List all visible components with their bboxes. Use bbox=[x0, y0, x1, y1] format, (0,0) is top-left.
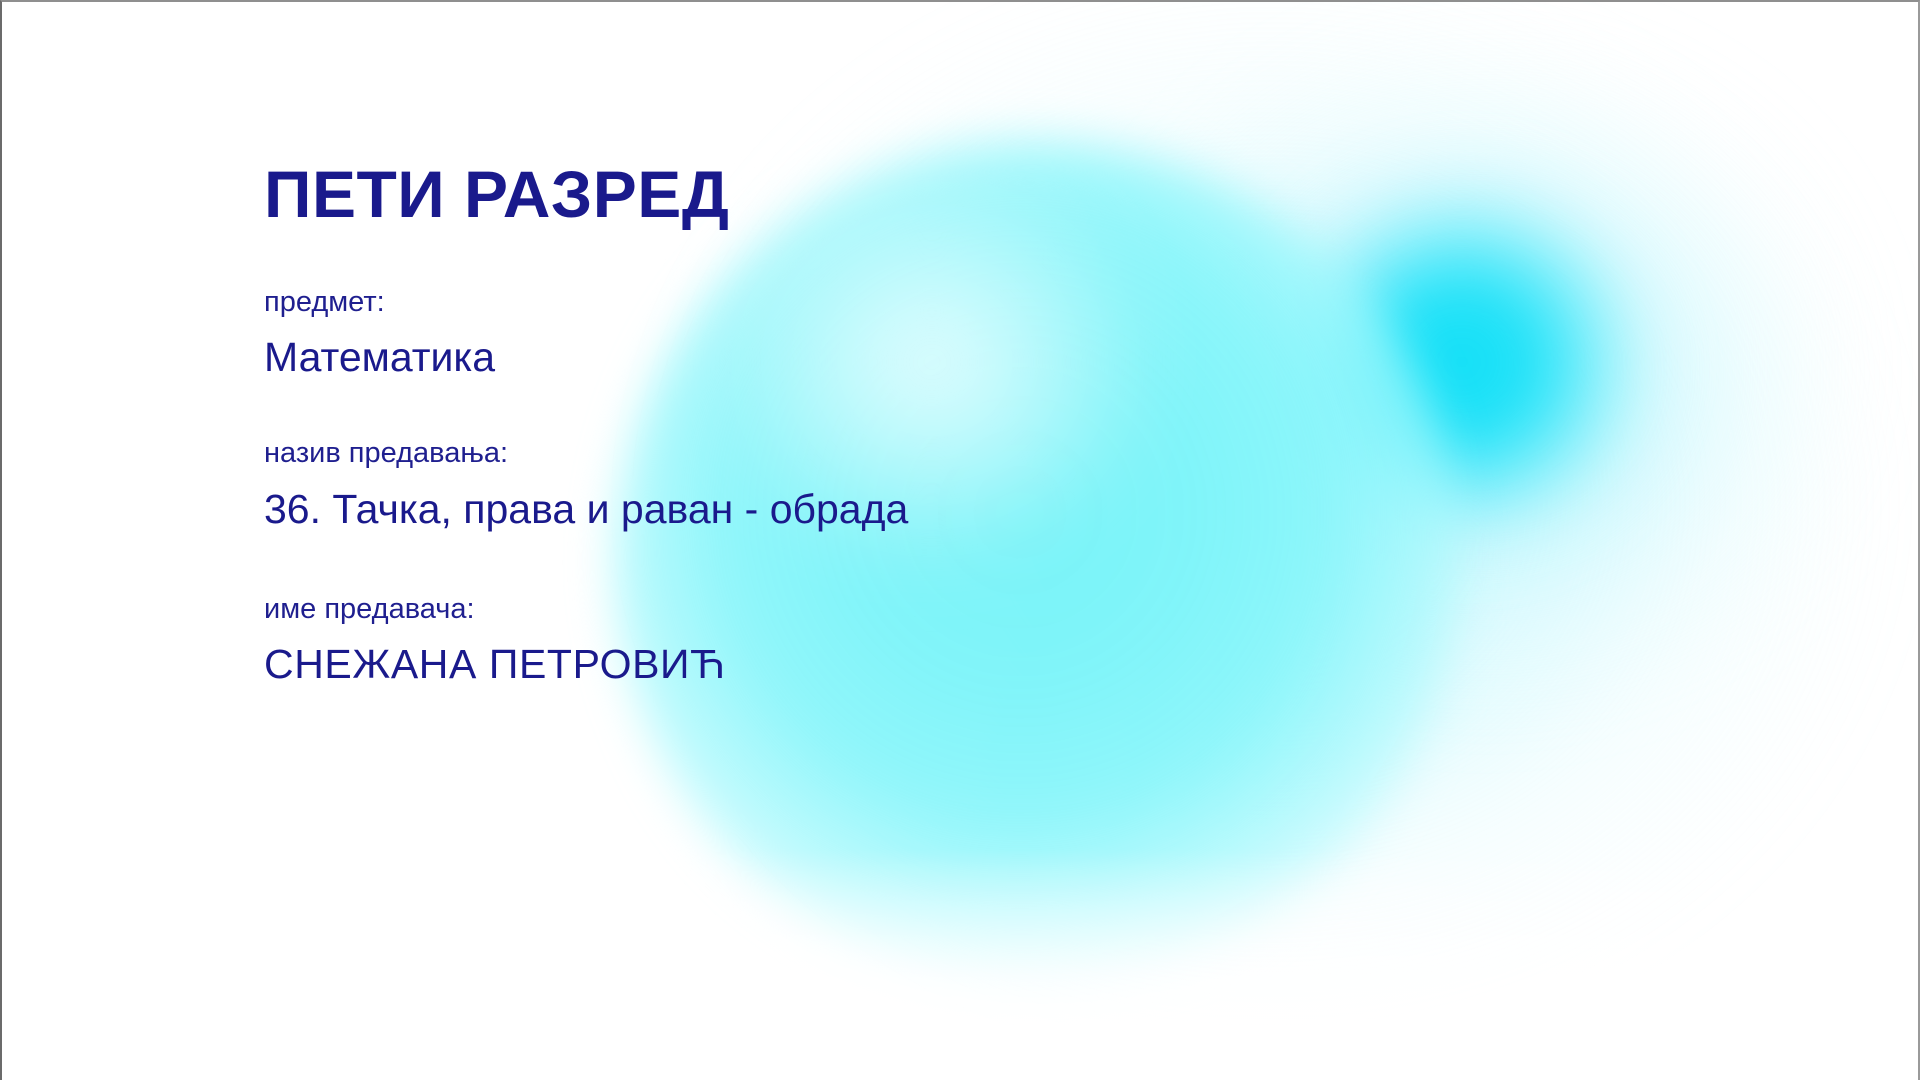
title-card-slide: ПЕТИ РАЗРЕД предмет: Математика назив пр… bbox=[0, 0, 1920, 1080]
lecture-title-value: 36. Тачка, права и раван - обрада bbox=[264, 484, 1364, 534]
page-title: ПЕТИ РАЗРЕД bbox=[264, 160, 1364, 229]
subject-label: предмет: bbox=[264, 283, 1364, 322]
field-lecture-title: назив предавања: 36. Тачка, права и рава… bbox=[264, 434, 1364, 533]
lecturer-label: име предавача: bbox=[264, 590, 1364, 629]
bottom-white-fade bbox=[2, 850, 1918, 1080]
slide-content: ПЕТИ РАЗРЕД предмет: Математика назив пр… bbox=[264, 160, 1364, 689]
subject-value: Математика bbox=[264, 332, 1364, 382]
field-subject: предмет: Математика bbox=[264, 283, 1364, 382]
lecturer-value: СНЕЖАНА ПЕТРОВИЋ bbox=[264, 639, 1364, 689]
lecture-title-label: назив предавања: bbox=[264, 434, 1364, 473]
field-lecturer: име предавача: СНЕЖАНА ПЕТРОВИЋ bbox=[264, 590, 1364, 689]
